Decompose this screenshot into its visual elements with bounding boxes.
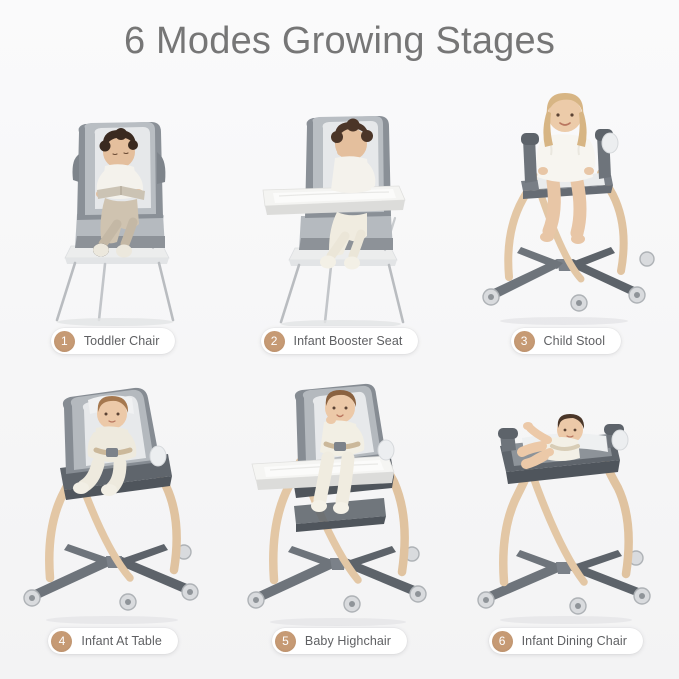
infant-at-table-illustration bbox=[8, 376, 218, 626]
mode-label-3: Child Stool bbox=[544, 334, 606, 348]
toddler-chair-illustration bbox=[13, 96, 213, 326]
mode-label-5: Baby Highchair bbox=[305, 634, 391, 648]
mode-label-1: Toddler Chair bbox=[84, 334, 160, 348]
mode-photo-5 bbox=[226, 372, 452, 628]
mode-badge-2[interactable]: 2 Infant Booster Seat bbox=[261, 328, 419, 354]
modes-grid: 1 Toddler Chair bbox=[0, 72, 679, 672]
mode-number-2: 2 bbox=[264, 331, 285, 352]
mode-cell-2[interactable]: 2 Infant Booster Seat bbox=[226, 72, 452, 372]
mode-number-4: 4 bbox=[51, 631, 72, 652]
mode-number-1: 1 bbox=[54, 331, 75, 352]
mode-label-4: Infant At Table bbox=[81, 634, 162, 648]
mode-badge-1[interactable]: 1 Toddler Chair bbox=[51, 328, 176, 354]
mode-photo-1 bbox=[0, 72, 226, 328]
mode-photo-2 bbox=[226, 72, 452, 328]
mode-photo-4 bbox=[0, 372, 226, 628]
infographic-page: 6 Modes Growing Stages bbox=[0, 0, 679, 679]
mode-cell-6[interactable]: 6 Infant Dining Chair bbox=[453, 372, 679, 672]
mode-badge-3[interactable]: 3 Child Stool bbox=[511, 328, 622, 354]
child-stool-illustration bbox=[461, 81, 671, 326]
mode-number-5: 5 bbox=[275, 631, 296, 652]
mode-cell-4[interactable]: 4 Infant At Table bbox=[0, 372, 226, 672]
mode-badge-5[interactable]: 5 Baby Highchair bbox=[272, 628, 407, 654]
page-title-container: 6 Modes Growing Stages bbox=[0, 0, 679, 64]
mode-cell-3[interactable]: 3 Child Stool bbox=[453, 72, 679, 372]
infant-booster-seat-illustration bbox=[239, 96, 439, 326]
page-title: 6 Modes Growing Stages bbox=[0, 20, 679, 64]
mode-cell-5[interactable]: 5 Baby Highchair bbox=[226, 372, 452, 672]
baby-highchair-illustration bbox=[234, 376, 444, 626]
mode-photo-6 bbox=[453, 372, 679, 628]
mode-number-6: 6 bbox=[492, 631, 513, 652]
mode-label-6: Infant Dining Chair bbox=[522, 634, 627, 648]
mode-number-3: 3 bbox=[514, 331, 535, 352]
mode-cell-1[interactable]: 1 Toddler Chair bbox=[0, 72, 226, 372]
mode-label-2: Infant Booster Seat bbox=[294, 334, 403, 348]
mode-badge-6[interactable]: 6 Infant Dining Chair bbox=[489, 628, 643, 654]
mode-photo-3 bbox=[453, 72, 679, 328]
infant-dining-chair-illustration bbox=[466, 386, 666, 626]
mode-badge-4[interactable]: 4 Infant At Table bbox=[48, 628, 178, 654]
